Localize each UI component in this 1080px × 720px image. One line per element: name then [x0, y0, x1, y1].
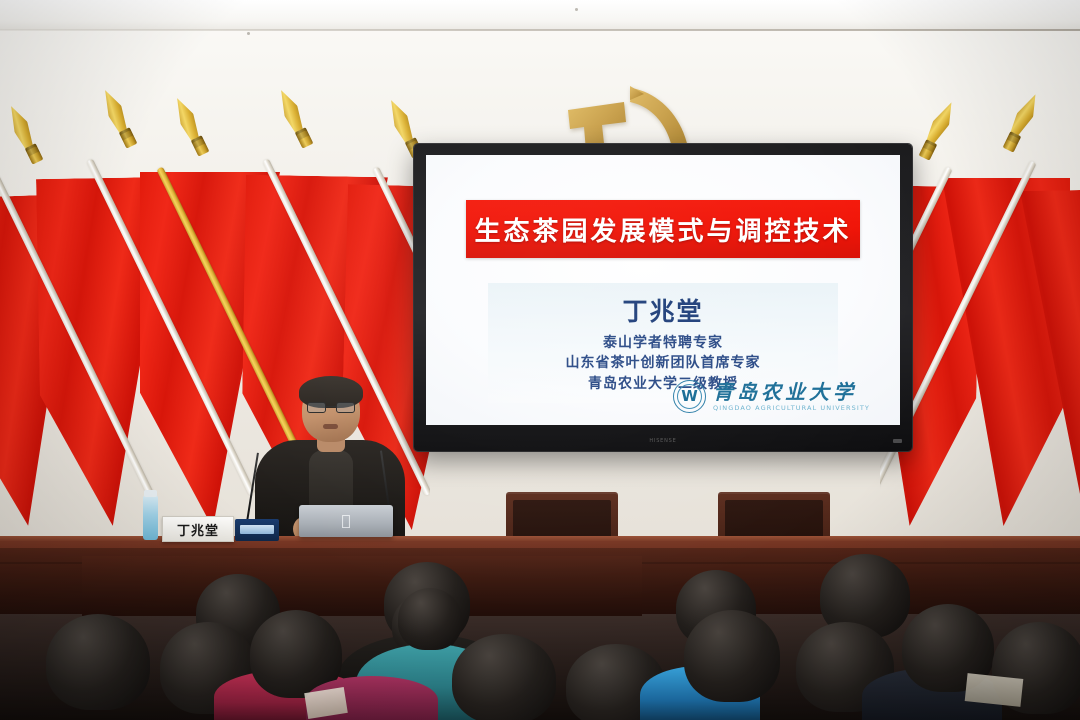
university-logo-text: 青岛农业大学 QINGDAO AGRICULTURAL UNIVERSITY	[713, 382, 870, 412]
spear-finial	[917, 99, 959, 162]
university-logo: W 青岛农业大学 QINGDAO AGRICULTURAL UNIVERSITY	[673, 380, 870, 413]
lecture-hall-photo: 生态茶园发展模式与调控技术 丁兆堂 泰山学者特聘专家 山东省茶叶创新团队首席专家…	[0, 0, 1080, 720]
apple-logo-icon: 	[341, 514, 350, 529]
control-device	[235, 519, 279, 541]
display-indicator-led	[893, 439, 902, 443]
audience-head	[684, 610, 780, 702]
slide-credential-2: 山东省茶叶创新团队首席专家	[566, 353, 761, 373]
presentation-slide: 生态茶园发展模式与调控技术 丁兆堂 泰山学者特聘专家 山东省茶叶创新团队首席专家…	[426, 155, 900, 425]
slide-title: 生态茶园发展模式与调控技术	[474, 211, 851, 248]
slide-credential-1: 泰山学者特聘专家	[603, 333, 723, 353]
water-bottle	[143, 495, 158, 540]
audience-head	[452, 634, 556, 720]
university-seal-icon: W	[673, 380, 706, 413]
macbook-laptop[interactable]: 	[299, 505, 393, 537]
presenter-glasses	[307, 402, 355, 413]
presenter-mouth	[323, 424, 338, 429]
audience-silhouettes	[0, 548, 1080, 720]
presentation-display[interactable]: 生态茶园发展模式与调控技术 丁兆堂 泰山学者特聘专家 山东省茶叶创新团队首席专家…	[414, 144, 912, 451]
audience-head	[398, 588, 462, 650]
ceiling-spot	[575, 8, 578, 11]
spear-finial	[4, 103, 46, 166]
slide-speaker-name: 丁兆堂	[622, 292, 703, 328]
spear-finial	[274, 87, 316, 150]
display-panel: 生态茶园发展模式与调控技术 丁兆堂 泰山学者特聘专家 山东省茶叶创新团队首席专家…	[426, 155, 900, 425]
university-name-en: QINGDAO AGRICULTURAL UNIVERSITY	[713, 404, 870, 412]
seal-letter: W	[681, 389, 698, 404]
slide-title-band: 生态茶园发展模式与调控技术	[466, 200, 860, 258]
display-brand-label: HISENSE	[649, 438, 676, 444]
spear-finial	[1001, 91, 1043, 154]
spear-finial	[98, 87, 140, 150]
name-placard: 丁兆堂	[162, 516, 234, 542]
red-flag	[1020, 189, 1080, 527]
audience-paper	[965, 673, 1024, 707]
name-placard-label: 丁兆堂	[177, 520, 219, 539]
audience-head	[46, 614, 150, 710]
spear-finial	[170, 95, 212, 158]
university-name-cn: 青岛农业大学	[713, 382, 857, 403]
